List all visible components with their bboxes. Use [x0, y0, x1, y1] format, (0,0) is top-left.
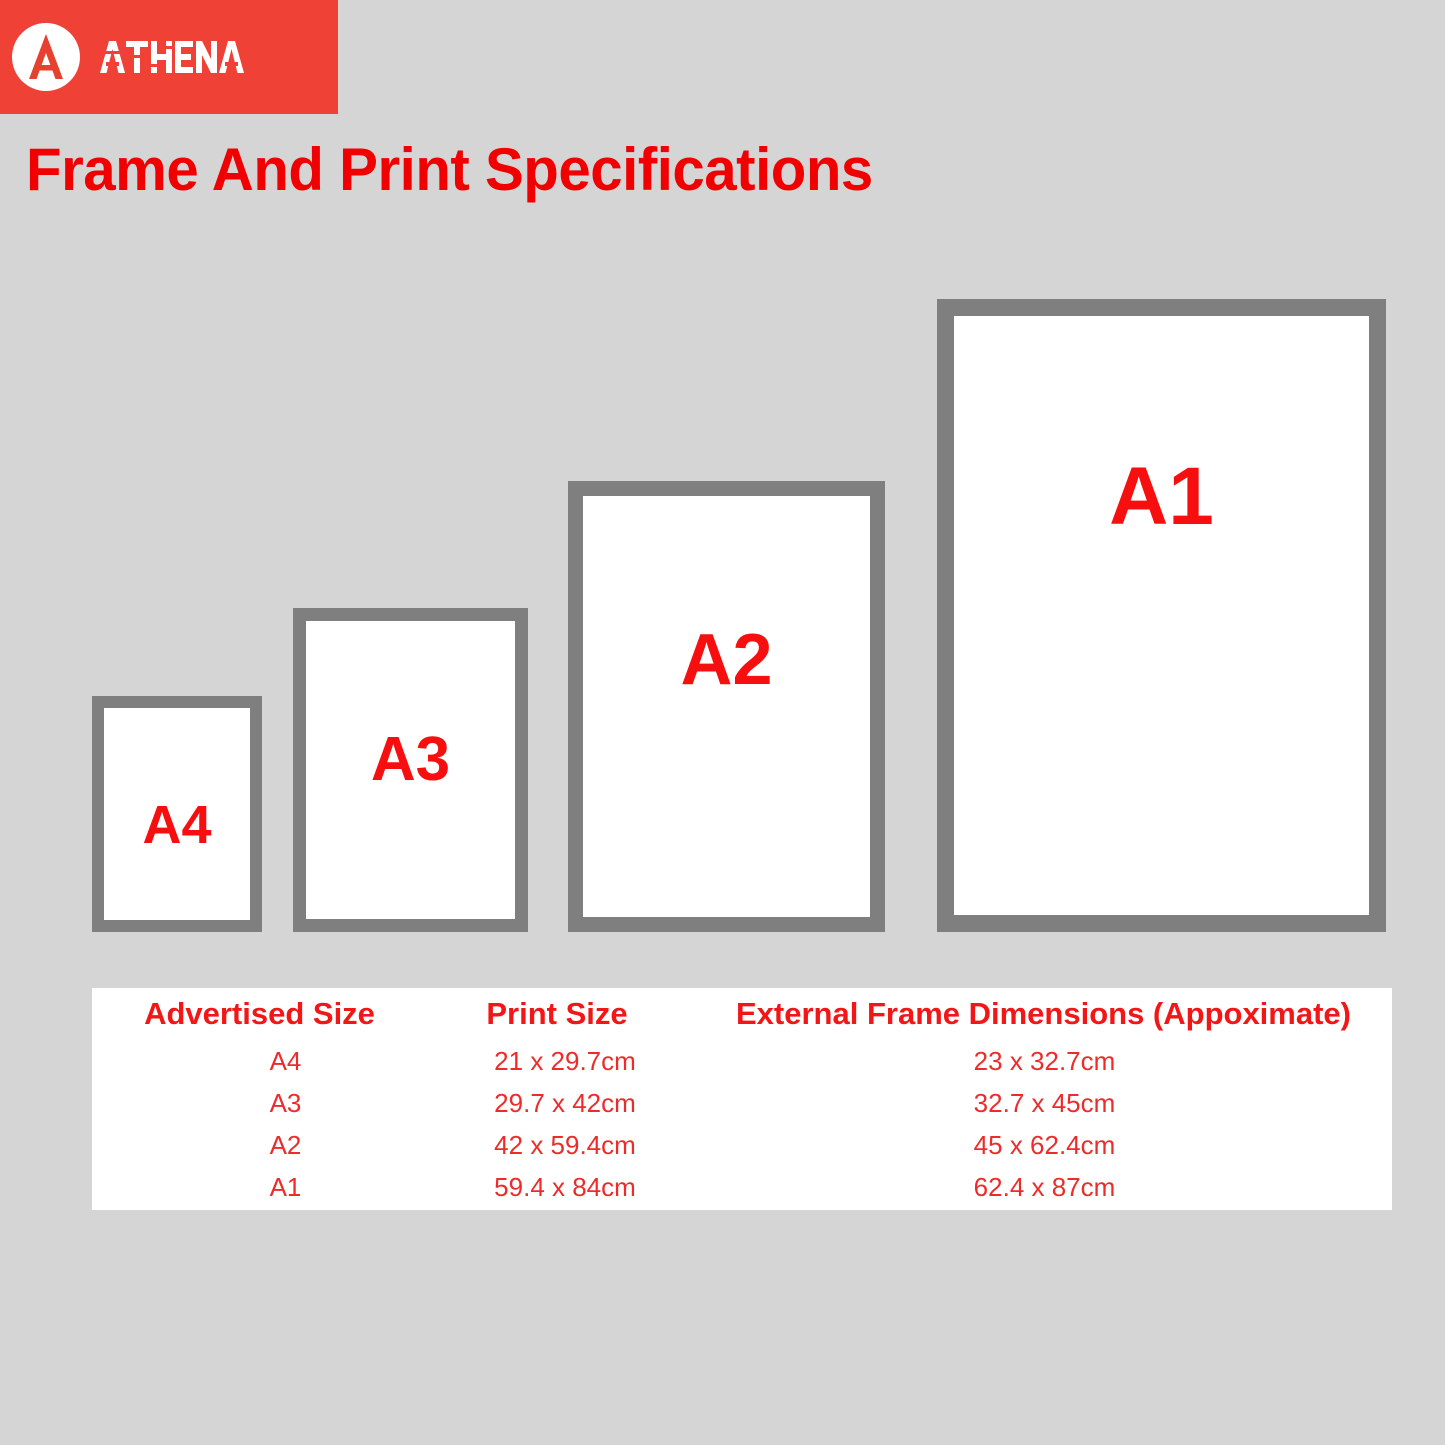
table-header-external-frame-dimensions: External Frame Dimensions (Appoximate) — [687, 996, 1392, 1032]
cell-external-frame: 23 x 32.7cm — [687, 1046, 1392, 1077]
cell-advertised-size: A2 — [92, 1130, 427, 1161]
table-header-advertised-size: Advertised Size — [92, 996, 427, 1032]
table-row: A2 42 x 59.4cm 45 x 62.4cm — [92, 1124, 1392, 1166]
cell-external-frame: 32.7 x 45cm — [687, 1088, 1392, 1119]
cell-value: 32.7 x 45cm — [964, 1088, 1116, 1118]
table-row: A3 29.7 x 42cm 32.7 x 45cm — [92, 1082, 1392, 1124]
cell-value: A3 — [218, 1088, 302, 1118]
table-row: A1 59.4 x 84cm 62.4 x 87cm — [92, 1166, 1392, 1208]
cell-print-size: 29.7 x 42cm — [427, 1088, 687, 1119]
specifications-table: Advertised Size Print Size External Fram… — [92, 988, 1392, 1210]
table-row: A4 21 x 29.7cm 23 x 32.7cm — [92, 1040, 1392, 1082]
cell-value: 29.7 x 42cm — [478, 1088, 636, 1118]
cell-value: 23 x 32.7cm — [964, 1046, 1116, 1076]
frame-preview-a3: A3 — [293, 608, 528, 932]
table-header-print-size: Print Size — [427, 996, 687, 1032]
frame-label-a4: A4 — [104, 798, 250, 852]
cell-value: A4 — [218, 1046, 302, 1076]
frame-size-diagram: A4 A3 A2 A1 — [0, 0, 1445, 1445]
cell-advertised-size: A1 — [92, 1172, 427, 1203]
frame-label-a2: A2 — [583, 624, 870, 696]
cell-print-size: 59.4 x 84cm — [427, 1172, 687, 1203]
frame-label-a3: A3 — [306, 729, 515, 791]
cell-value: 59.4 x 84cm — [478, 1172, 636, 1202]
cell-value: 42 x 59.4cm — [478, 1130, 636, 1160]
cell-value: 45 x 62.4cm — [964, 1130, 1116, 1160]
frame-preview-a1: A1 — [937, 299, 1386, 932]
header-label: Advertised Size — [144, 996, 375, 1031]
cell-print-size: 42 x 59.4cm — [427, 1130, 687, 1161]
cell-external-frame: 62.4 x 87cm — [687, 1172, 1392, 1203]
cell-print-size: 21 x 29.7cm — [427, 1046, 687, 1077]
cell-advertised-size: A3 — [92, 1088, 427, 1119]
frame-preview-a4: A4 — [92, 696, 262, 932]
header-label: External Frame Dimensions (Appoximate) — [728, 996, 1351, 1031]
cell-value: A1 — [218, 1172, 302, 1202]
header-label: Print Size — [486, 996, 627, 1031]
frame-preview-a2: A2 — [568, 481, 885, 932]
cell-value: 21 x 29.7cm — [478, 1046, 636, 1076]
cell-value: A2 — [218, 1130, 302, 1160]
cell-external-frame: 45 x 62.4cm — [687, 1130, 1392, 1161]
frame-label-a1: A1 — [954, 456, 1369, 538]
cell-value: 62.4 x 87cm — [964, 1172, 1116, 1202]
cell-advertised-size: A4 — [92, 1046, 427, 1077]
table-header-row: Advertised Size Print Size External Fram… — [92, 988, 1392, 1040]
